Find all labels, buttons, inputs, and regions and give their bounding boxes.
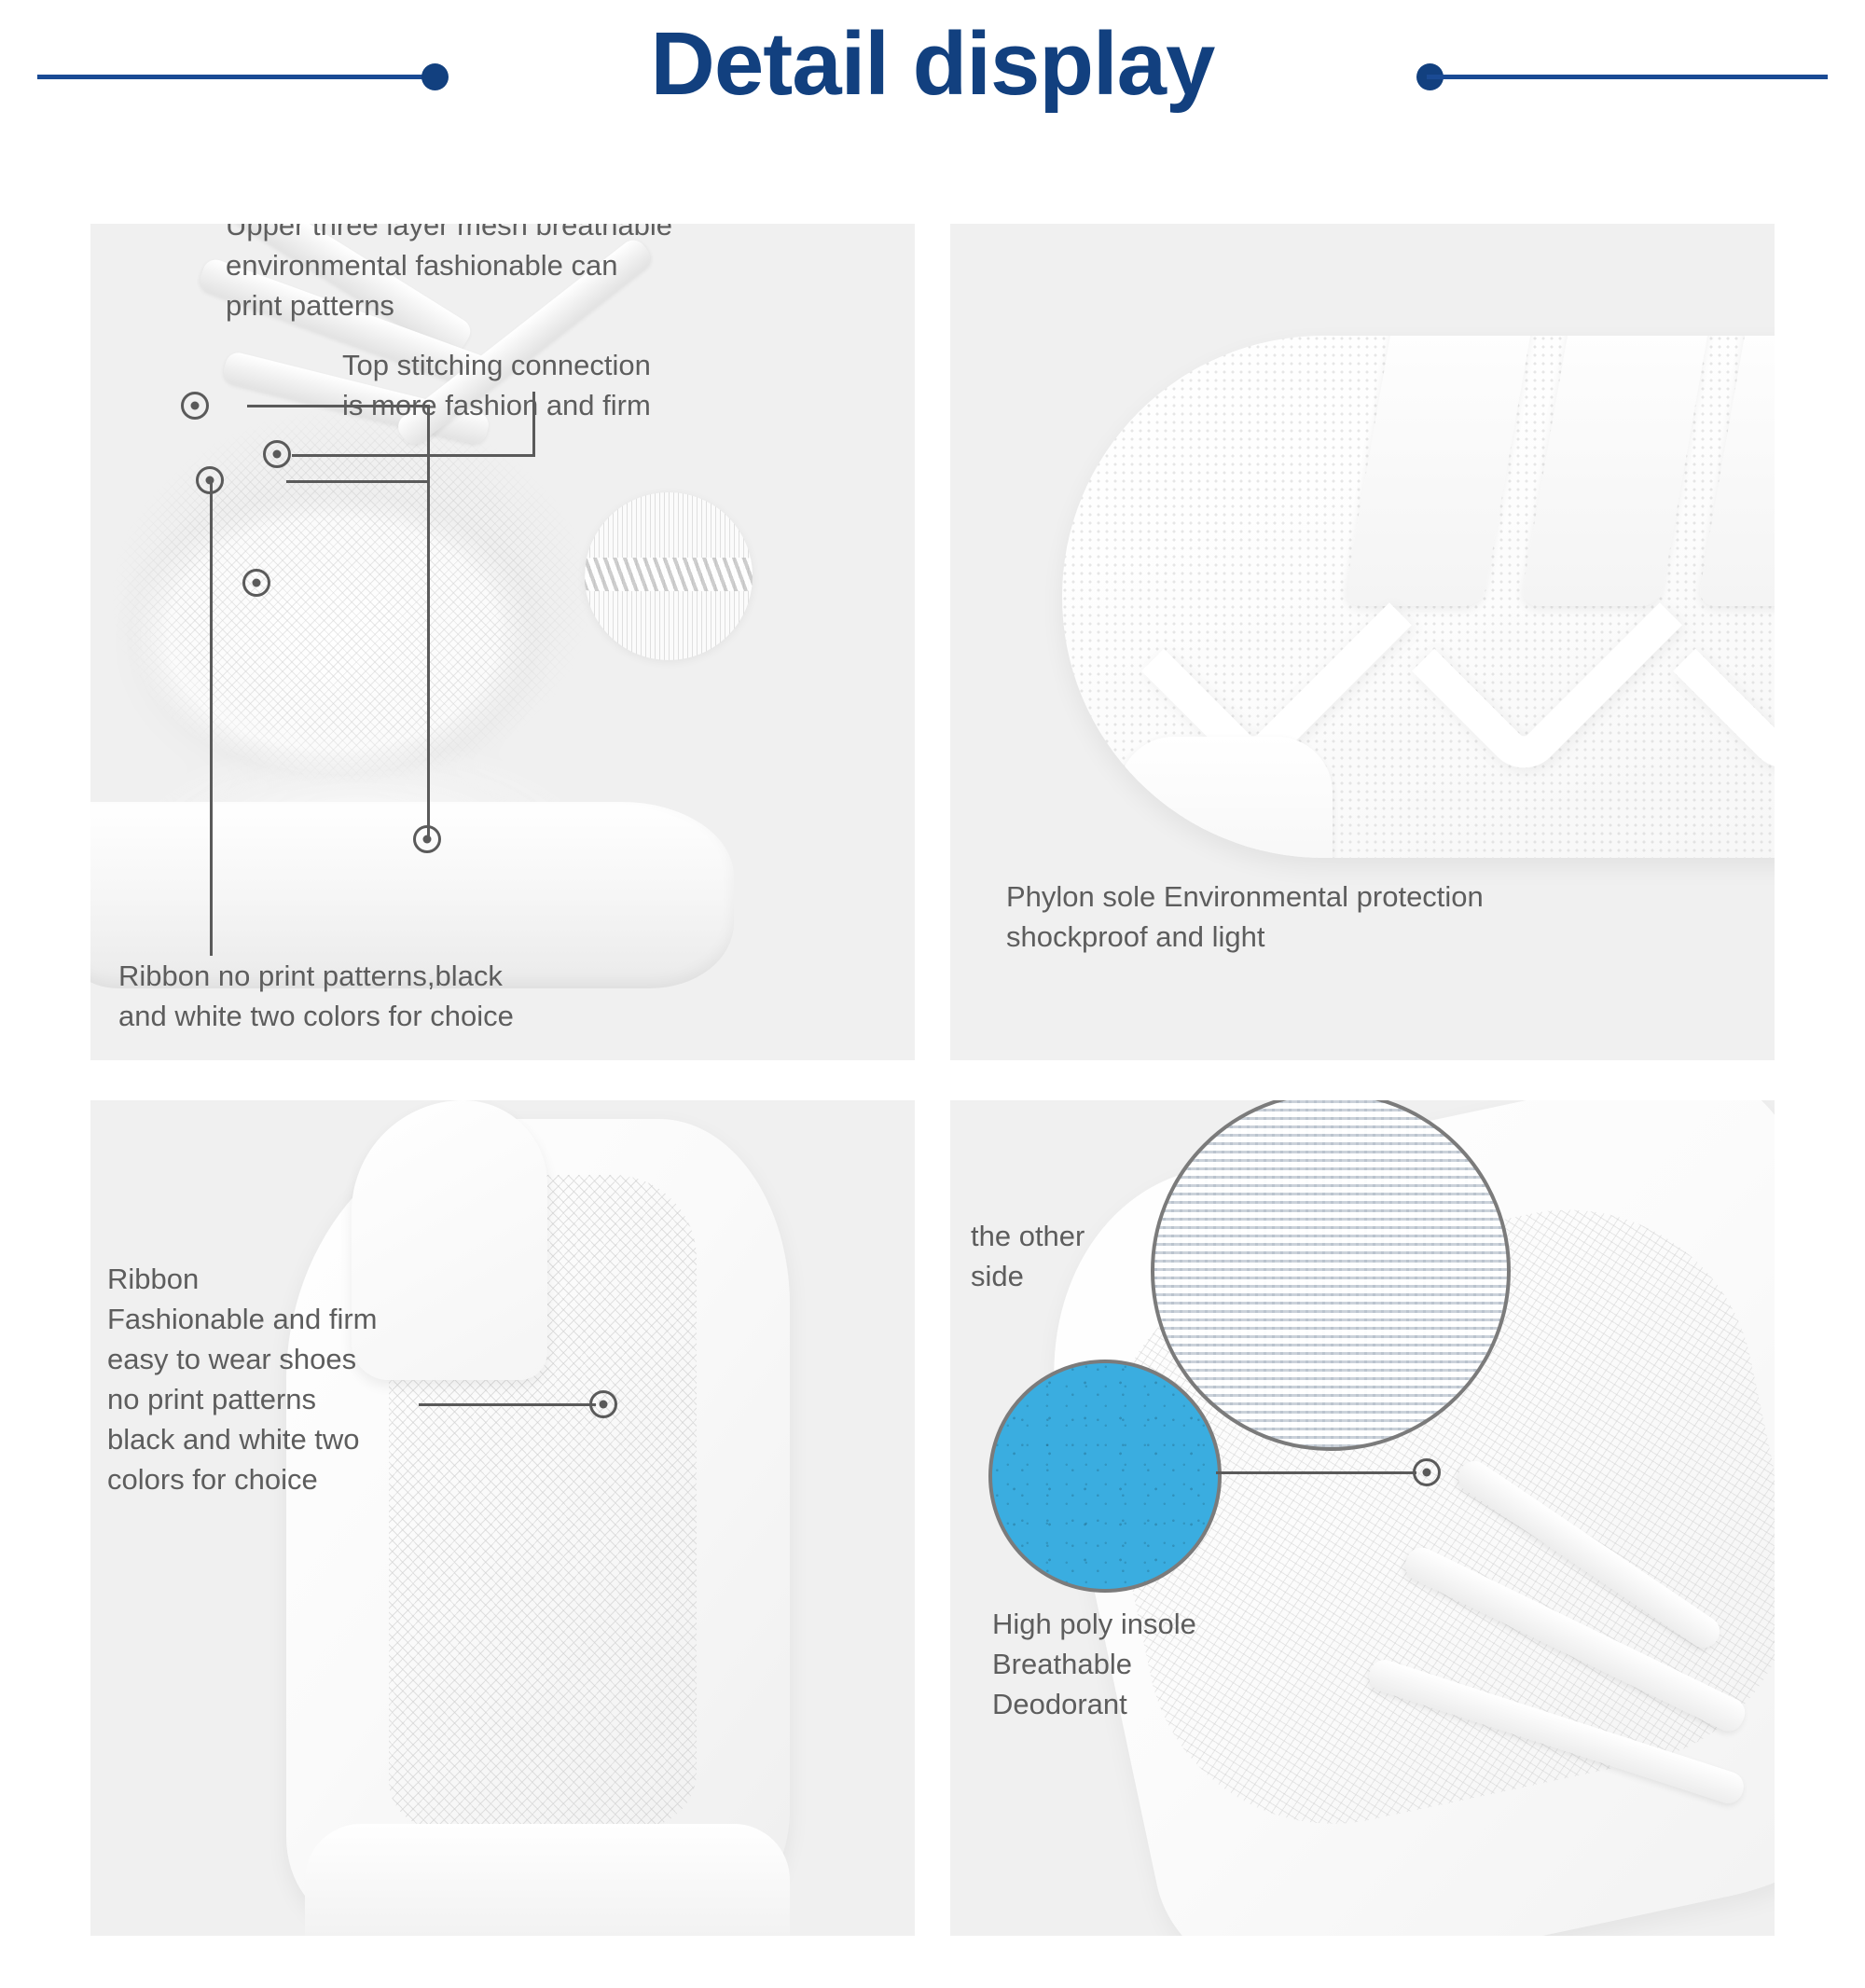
- page-title: Detail display: [0, 13, 1865, 116]
- panel-ribbon-collar: Ribbon Fashionable and firm easy to wear…: [90, 1100, 915, 1936]
- leader-line: [532, 392, 535, 457]
- zoom-circle-insole: [988, 1360, 1222, 1593]
- leader-line: [1216, 1471, 1416, 1474]
- note-high-poly-insole: High poly insole Breathable Deodorant: [992, 1604, 1365, 1724]
- leader-line: [210, 480, 213, 956]
- leader-line: [419, 1403, 596, 1406]
- tread-block: [1118, 737, 1333, 858]
- note-ribbon-detail: Ribbon Fashionable and firm easy to wear…: [107, 1259, 536, 1499]
- detail-display-page: Detail display Upper three layer mesh br…: [0, 0, 1865, 1988]
- stitching-zoom-circle: [585, 492, 753, 660]
- leader-line: [286, 480, 428, 483]
- marker-ribbon[interactable]: [196, 466, 224, 494]
- heel-collar-photo: [90, 1100, 915, 1936]
- panel-upper-mesh: Upper three layer mesh breathable enviro…: [90, 224, 915, 1060]
- shoe-base-shape: [305, 1824, 790, 1936]
- marker-upper-mesh[interactable]: [181, 392, 209, 420]
- note-phylon-sole: Phylon sole Environmental protection sho…: [1006, 877, 1752, 957]
- marker-ribbon-collar[interactable]: [589, 1390, 617, 1418]
- tread-block: [1697, 336, 1775, 606]
- marker-ribbon-bottom[interactable]: [413, 825, 441, 853]
- leader-line: [247, 405, 430, 407]
- note-top-stitching: Top stitching connection is more fashion…: [342, 345, 790, 425]
- note-ribbon-colors: Ribbon no print patterns,black and white…: [118, 956, 678, 1036]
- marker-lace-eyelet[interactable]: [263, 440, 291, 468]
- panel-insole: the other side High poly insole Breathab…: [950, 1100, 1775, 1936]
- tread-block: [1343, 336, 1537, 606]
- page-header: Detail display: [0, 0, 1865, 164]
- note-other-side: the other side: [971, 1216, 1250, 1296]
- panel-phylon-sole: Phylon sole Environmental protection sho…: [950, 224, 1775, 1060]
- leader-line: [427, 405, 430, 839]
- marker-stitching[interactable]: [242, 569, 270, 597]
- header-rule-right-icon: [1427, 75, 1828, 79]
- outsole-shape: [1062, 336, 1775, 858]
- leader-line: [292, 454, 534, 457]
- note-upper-mesh: Upper three layer mesh breathable enviro…: [226, 224, 841, 325]
- detail-panel-grid: Upper three layer mesh breathable enviro…: [90, 224, 1775, 1936]
- marker-insole[interactable]: [1413, 1458, 1441, 1486]
